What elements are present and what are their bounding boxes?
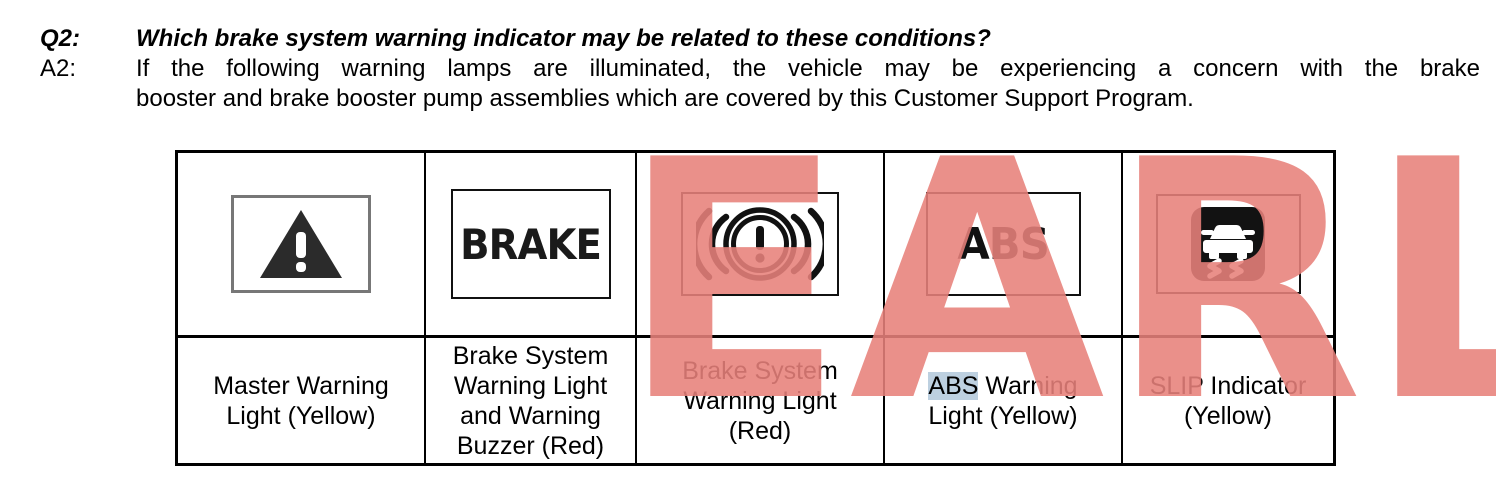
cell-icon-master-warning [178,153,426,335]
caption-line: (Yellow) [1184,402,1272,430]
caption-line: Light (Yellow) [928,402,1077,430]
slip-indicator-icon [1156,194,1301,294]
answer-text: If the following warning lamps are illum… [136,54,1480,114]
caption-selected-text: ABS [928,372,978,400]
question-text: Which brake system warning indicator may… [136,24,1480,54]
brake-word-label: BRAKE [460,220,601,269]
caption-line-rest: Warning [978,372,1077,400]
cell-caption-brake-buzzer: Brake System Warning Light and Warning B… [426,338,637,463]
caption-line: and Warning [460,402,601,430]
question-tag: Q2: [40,24,136,54]
answer-line-2: booster and brake booster pump assemblie… [136,84,1480,114]
cell-icon-slip-indicator [1123,153,1333,335]
caption-line: (Red) [729,417,792,445]
document-page: Q2: Which brake system warning indicator… [0,0,1496,490]
caption-line: Master Warning [213,372,389,400]
abs-word-icon: ABS [926,192,1081,296]
caption-line: Brake System [682,357,838,385]
answer-line-1: If the following warning lamps are illum… [136,54,1480,84]
caption-line: Brake System [453,342,609,370]
warning-indicator-table: BRAKE [175,150,1336,466]
answer-row: A2: If the following warning lamps are i… [40,54,1480,114]
caption-line: Warning Light [683,387,836,415]
abs-word-label: ABS [957,219,1048,270]
table-row-icons: BRAKE [178,153,1333,335]
cell-icon-brake-system-warning [637,153,885,335]
cell-icon-brake-word: BRAKE [426,153,637,335]
caption-line: Light (Yellow) [226,402,375,430]
cell-caption-abs-warning: ABS Warning Light (Yellow) [885,338,1123,463]
question-row: Q2: Which brake system warning indicator… [40,24,1480,54]
cell-caption-slip-indicator: SLIP Indicator (Yellow) [1123,338,1333,463]
caption-brake-system-warning: Brake System Warning Light (Red) [676,356,844,446]
caption-line: Warning Light [454,372,607,400]
caption-abs-warning: ABS Warning Light (Yellow) [922,371,1083,431]
caption-line: SLIP Indicator [1150,372,1307,400]
caption-slip-indicator: SLIP Indicator (Yellow) [1144,371,1313,431]
brake-system-warning-circle-icon [681,192,839,296]
cell-caption-master-warning: Master Warning Light (Yellow) [178,338,426,463]
master-warning-triangle-icon [231,195,371,293]
qa-block: Q2: Which brake system warning indicator… [40,24,1480,114]
cell-icon-abs-word: ABS [885,153,1123,335]
cell-caption-brake-system-warning: Brake System Warning Light (Red) [637,338,885,463]
caption-brake-buzzer: Brake System Warning Light and Warning B… [447,341,615,461]
table-row-captions: Master Warning Light (Yellow) Brake Syst… [178,335,1333,463]
caption-master-warning: Master Warning Light (Yellow) [207,371,395,431]
answer-tag: A2: [40,54,136,84]
brake-word-icon: BRAKE [451,189,611,299]
caption-line: Buzzer (Red) [457,432,604,460]
